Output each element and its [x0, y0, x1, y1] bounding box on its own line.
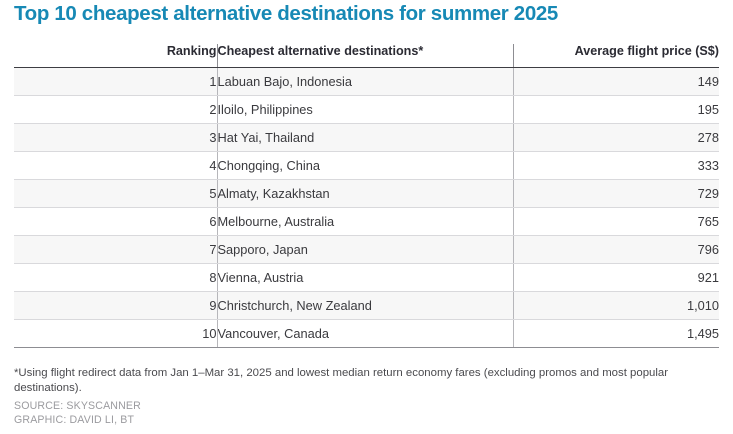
table-header: Ranking Cheapest alternative destination…: [14, 44, 719, 68]
cell-destination: Hat Yai, Thailand: [217, 124, 513, 152]
cell-ranking: 9: [14, 292, 217, 320]
cell-destination: Vancouver, Canada: [217, 320, 513, 348]
credits: SOURCE: SKYSCANNER GRAPHIC: DAVID LI, BT: [14, 399, 434, 427]
cell-price: 195: [513, 96, 719, 124]
cell-destination: Christchurch, New Zealand: [217, 292, 513, 320]
cell-ranking: 6: [14, 208, 217, 236]
table-row: 4 Chongqing, China 333: [14, 152, 719, 180]
cell-ranking: 10: [14, 320, 217, 348]
table-header-row: Ranking Cheapest alternative destination…: [14, 44, 719, 68]
table-row: 7 Sapporo, Japan 796: [14, 236, 719, 264]
cell-ranking: 2: [14, 96, 217, 124]
cell-destination: Sapporo, Japan: [217, 236, 513, 264]
cell-price: 149: [513, 68, 719, 96]
table-row: 2 Iloilo, Philippines 195: [14, 96, 719, 124]
ranking-table: Ranking Cheapest alternative destination…: [14, 44, 719, 348]
cell-destination: Vienna, Austria: [217, 264, 513, 292]
cell-destination: Iloilo, Philippines: [217, 96, 513, 124]
cell-ranking: 5: [14, 180, 217, 208]
table-row: 5 Almaty, Kazakhstan 729: [14, 180, 719, 208]
cell-ranking: 3: [14, 124, 217, 152]
table-body: 1 Labuan Bajo, Indonesia 149 2 Iloilo, P…: [14, 68, 719, 348]
cell-ranking: 8: [14, 264, 217, 292]
column-header-ranking: Ranking: [14, 44, 217, 68]
table-row: 3 Hat Yai, Thailand 278: [14, 124, 719, 152]
cell-ranking: 4: [14, 152, 217, 180]
cell-destination: Melbourne, Australia: [217, 208, 513, 236]
table-row: 10 Vancouver, Canada 1,495: [14, 320, 719, 348]
cell-ranking: 1: [14, 68, 217, 96]
cell-price: 1,495: [513, 320, 719, 348]
cell-price: 921: [513, 264, 719, 292]
column-header-price: Average flight price (S$): [513, 44, 719, 68]
cell-destination: Almaty, Kazakhstan: [217, 180, 513, 208]
cell-ranking: 7: [14, 236, 217, 264]
cell-price: 278: [513, 124, 719, 152]
graphic-credit: GRAPHIC: DAVID LI, BT: [14, 413, 434, 427]
cell-price: 333: [513, 152, 719, 180]
cell-price: 1,010: [513, 292, 719, 320]
page-title: Top 10 cheapest alternative destinations…: [14, 2, 714, 26]
cell-destination: Labuan Bajo, Indonesia: [217, 68, 513, 96]
table-row: 9 Christchurch, New Zealand 1,010: [14, 292, 719, 320]
table-row: 8 Vienna, Austria 921: [14, 264, 719, 292]
footnote: *Using flight redirect data from Jan 1–M…: [14, 366, 704, 395]
cell-destination: Chongqing, China: [217, 152, 513, 180]
cell-price: 765: [513, 208, 719, 236]
table-row: 1 Labuan Bajo, Indonesia 149: [14, 68, 719, 96]
infographic-page: Top 10 cheapest alternative destinations…: [0, 0, 733, 434]
cell-price: 796: [513, 236, 719, 264]
source-credit: SOURCE: SKYSCANNER: [14, 399, 434, 413]
ranking-table-container: Ranking Cheapest alternative destination…: [14, 44, 719, 348]
column-header-destination: Cheapest alternative destinations*: [217, 44, 513, 68]
table-row: 6 Melbourne, Australia 765: [14, 208, 719, 236]
cell-price: 729: [513, 180, 719, 208]
